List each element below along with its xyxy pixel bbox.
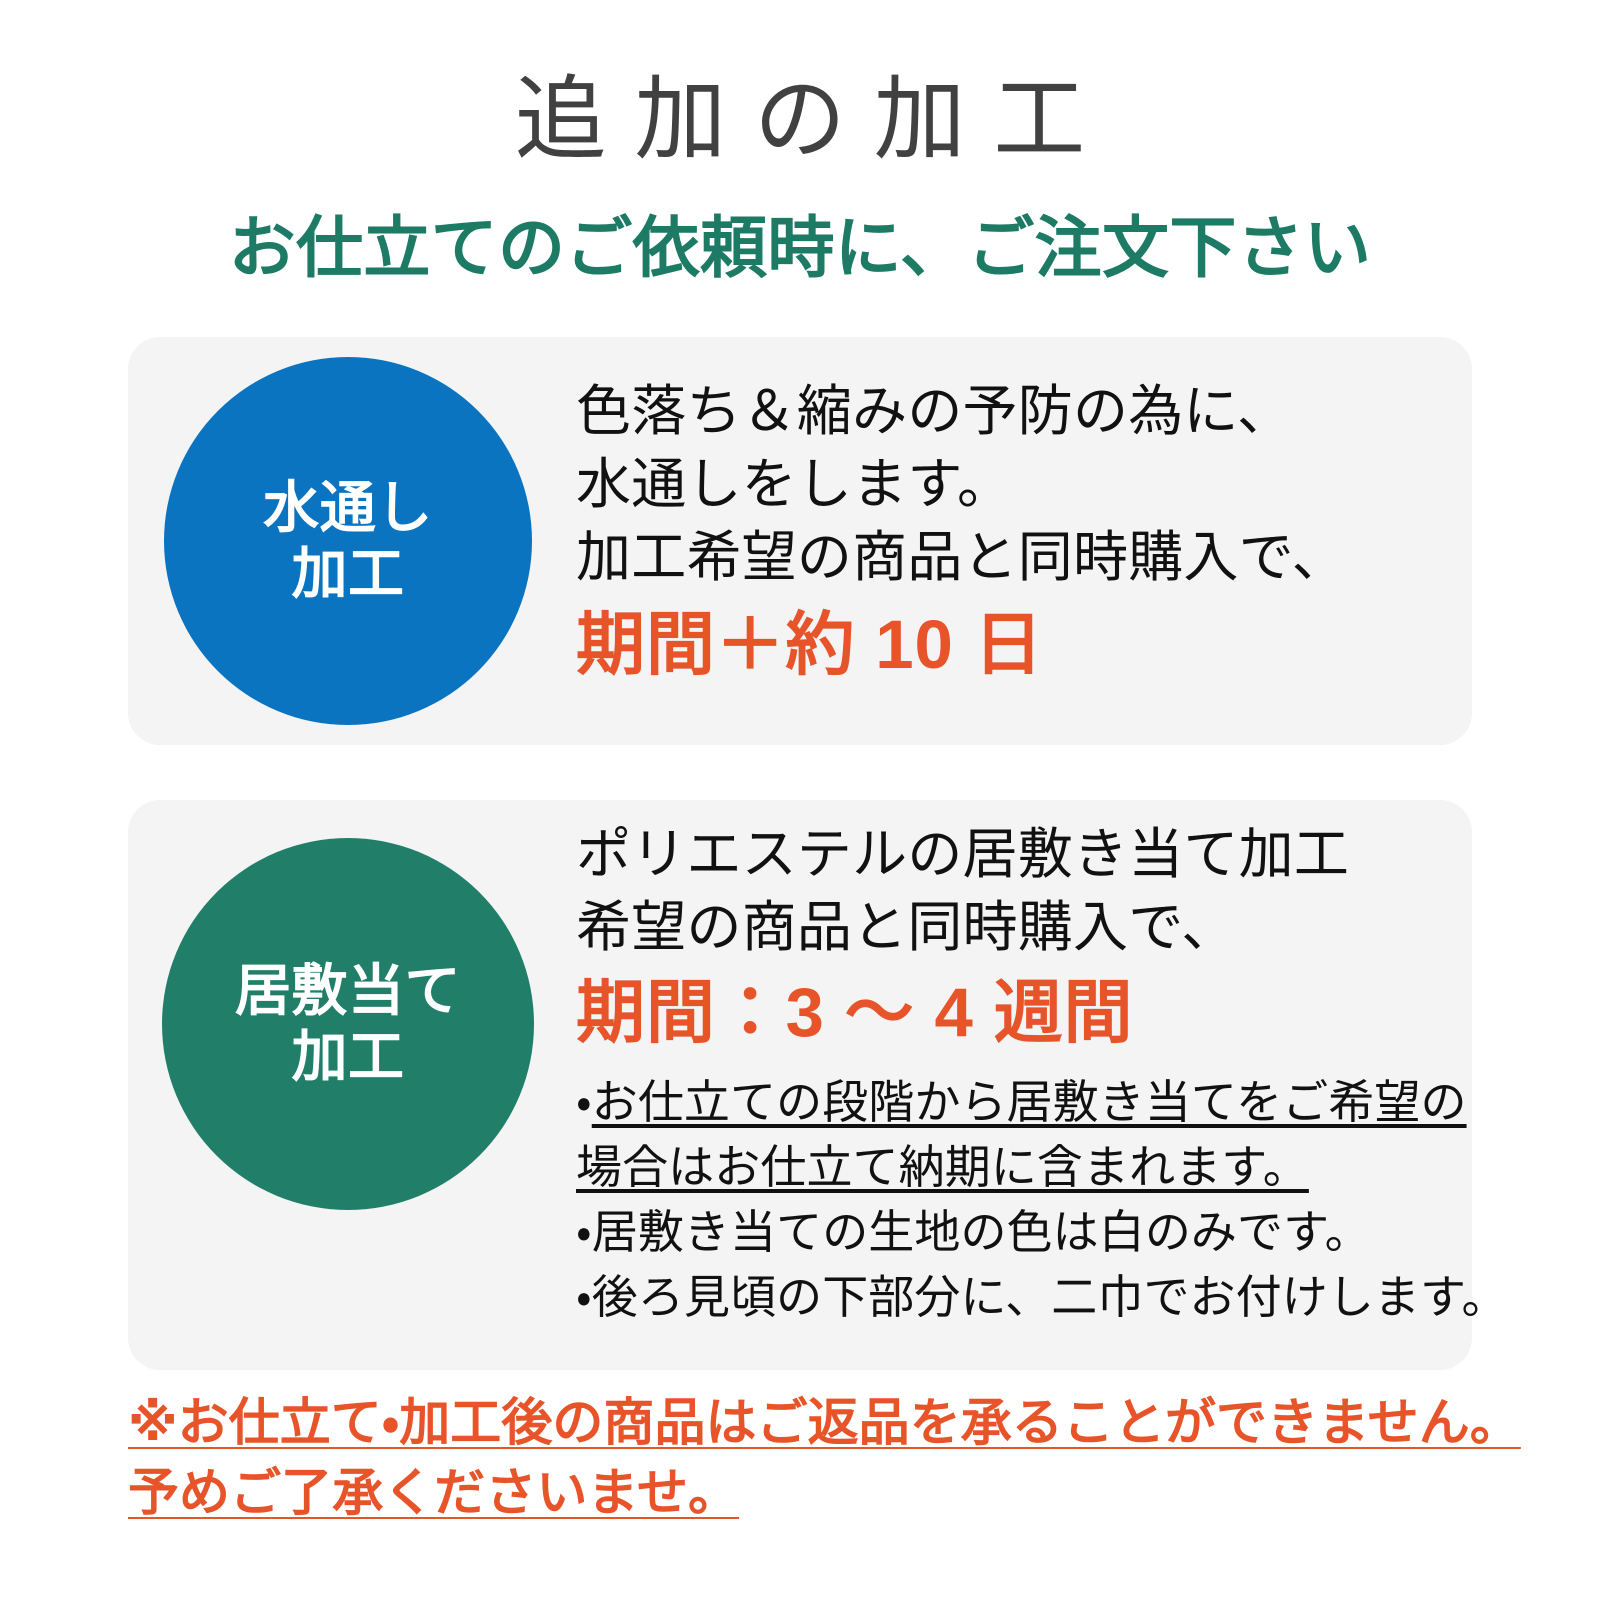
infographic-page: 追加の加工 お仕立てのご依頼時に、ご注文下さい 水通し 加工 色落ち＆縮みの予防…: [0, 0, 1600, 1600]
badge-label-line1: 居敷当て: [235, 958, 461, 1024]
page-title: 追加の加工: [0, 72, 1600, 169]
list-item: ・お仕立ての段階から居敷き当てをご希望の: [576, 1070, 1454, 1135]
list-item: 場合はお仕立て納期に含まれます。: [576, 1135, 1454, 1200]
card-lining-body: ポリエステルの居敷き当て加工 希望の商品と同時購入で、 期間：3 〜 4 週間 …: [576, 818, 1454, 1329]
bullet-marker: ・: [576, 1271, 592, 1323]
page-subtitle: お仕立てのご依頼時に、ご注文下さい: [0, 212, 1600, 286]
badge-label-line2: 加工: [291, 541, 404, 607]
badge-water-treatment: 水通し 加工: [164, 357, 532, 725]
body-line: ポリエステルの居敷き当て加工: [576, 818, 1454, 891]
note-text: 場合はお仕立て納期に含まれます。: [576, 1141, 1309, 1193]
warning-text: ※お仕立て・加工後の商品はご返品を承ることができません。: [128, 1394, 1521, 1451]
card-lining-treatment: 居敷当て 加工 ポリエステルの居敷き当て加工 希望の商品と同時購入で、 期間：3…: [128, 800, 1472, 1370]
body-line: 水通しをします。: [576, 448, 1454, 521]
note-list: ・お仕立ての段階から居敷き当てをご希望の 場合はお仕立て納期に含まれます。 ・居…: [576, 1070, 1454, 1329]
list-item: ・居敷き当ての生地の色は白のみです。: [576, 1200, 1454, 1265]
note-text: 居敷き当ての生地の色は白のみです。: [592, 1206, 1371, 1258]
warning-line: 予めご了承くださいませ。: [128, 1458, 1548, 1528]
body-line: 希望の商品と同時購入で、: [576, 891, 1454, 964]
badge-label-line1: 水通し: [263, 475, 433, 541]
return-policy-warning: ※お仕立て・加工後の商品はご返品を承ることができません。 予めご了承くださいませ…: [128, 1388, 1548, 1529]
badge-label-line2: 加工: [291, 1024, 404, 1090]
warning-text: 予めご了承くださいませ。: [128, 1464, 739, 1521]
note-text: お仕立ての段階から居敷き当てをご希望の: [592, 1076, 1467, 1128]
body-line: 加工希望の商品と同時購入で、: [576, 521, 1454, 594]
bullet-marker: ・: [576, 1206, 592, 1258]
duration-emphasis: 期間＋約 10 日: [576, 600, 1454, 690]
badge-lining-treatment: 居敷当て 加工: [162, 838, 534, 1210]
warning-line: ※お仕立て・加工後の商品はご返品を承ることができません。: [128, 1388, 1548, 1458]
list-item: ・後ろ見頃の下部分に、二巾でお付けします。: [576, 1265, 1454, 1330]
card-water-treatment: 水通し 加工 色落ち＆縮みの予防の為に、 水通しをします。 加工希望の商品と同時…: [128, 337, 1472, 745]
body-line: 色落ち＆縮みの予防の為に、: [576, 375, 1454, 448]
note-text: 後ろ見頃の下部分に、二巾でお付けします。: [592, 1271, 1508, 1323]
bullet-marker: ・: [576, 1076, 592, 1128]
card-water-body: 色落ち＆縮みの予防の為に、 水通しをします。 加工希望の商品と同時購入で、 期間…: [576, 375, 1454, 690]
duration-emphasis: 期間：3 〜 4 週間: [576, 968, 1454, 1058]
